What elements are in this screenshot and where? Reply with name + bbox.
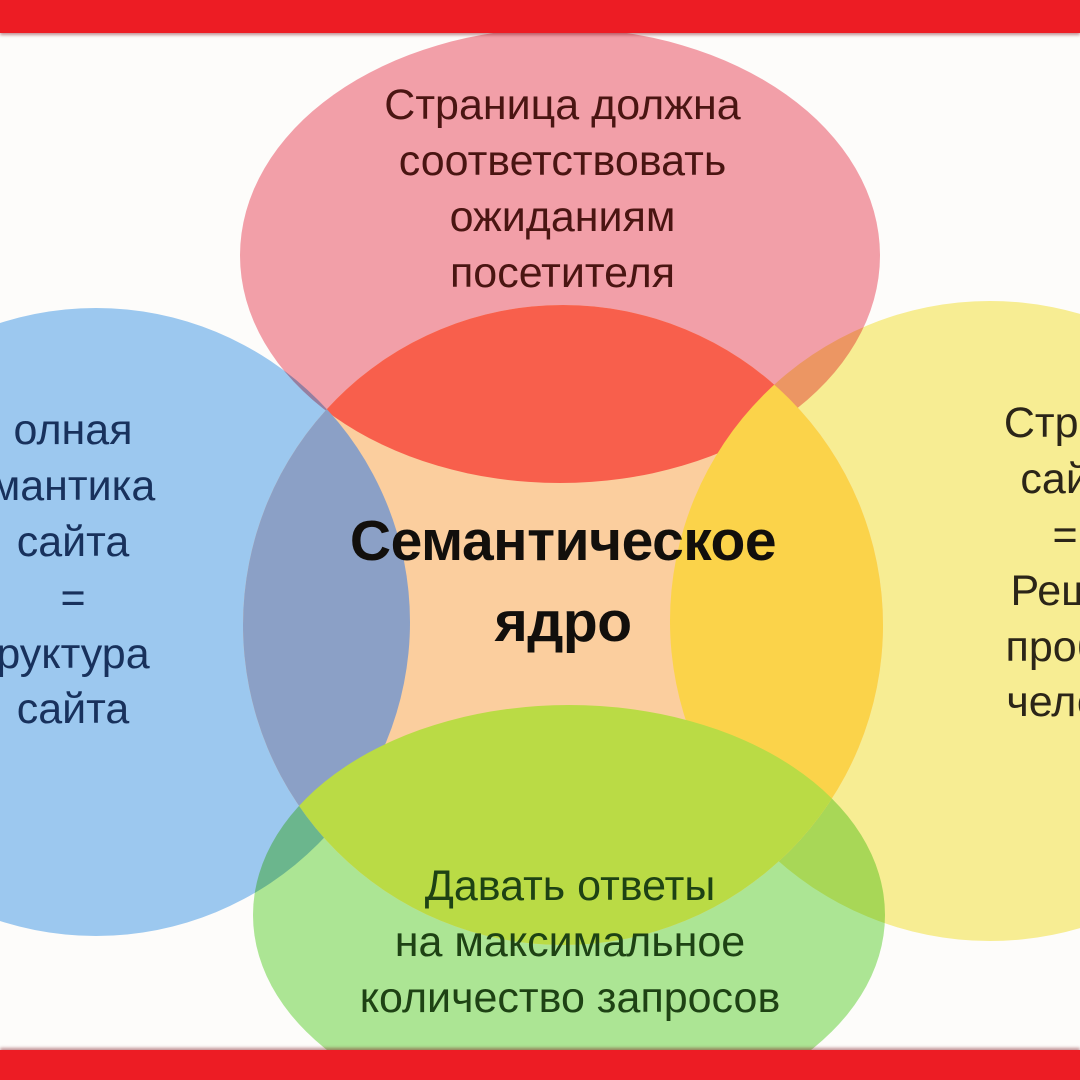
circle-left-label: олная мантика сайта = руктура сайта xyxy=(0,403,238,738)
circle-bottom-label: Давать ответы на максимальное количество… xyxy=(255,859,885,1027)
center-core-label: Семантическое ядро xyxy=(243,501,883,663)
diagram-stage: Страница должна соответствовать ожидания… xyxy=(0,0,1080,1080)
venn-diagram: Страница должна соответствовать ожидания… xyxy=(0,33,1080,1050)
top-red-bar xyxy=(0,0,1080,33)
circle-top-label: Страница должна соответствовать ожидания… xyxy=(290,78,835,302)
bottom-red-bar xyxy=(0,1050,1080,1080)
circle-right-label: Стран сайт = Реше пробл челов xyxy=(905,396,1080,731)
